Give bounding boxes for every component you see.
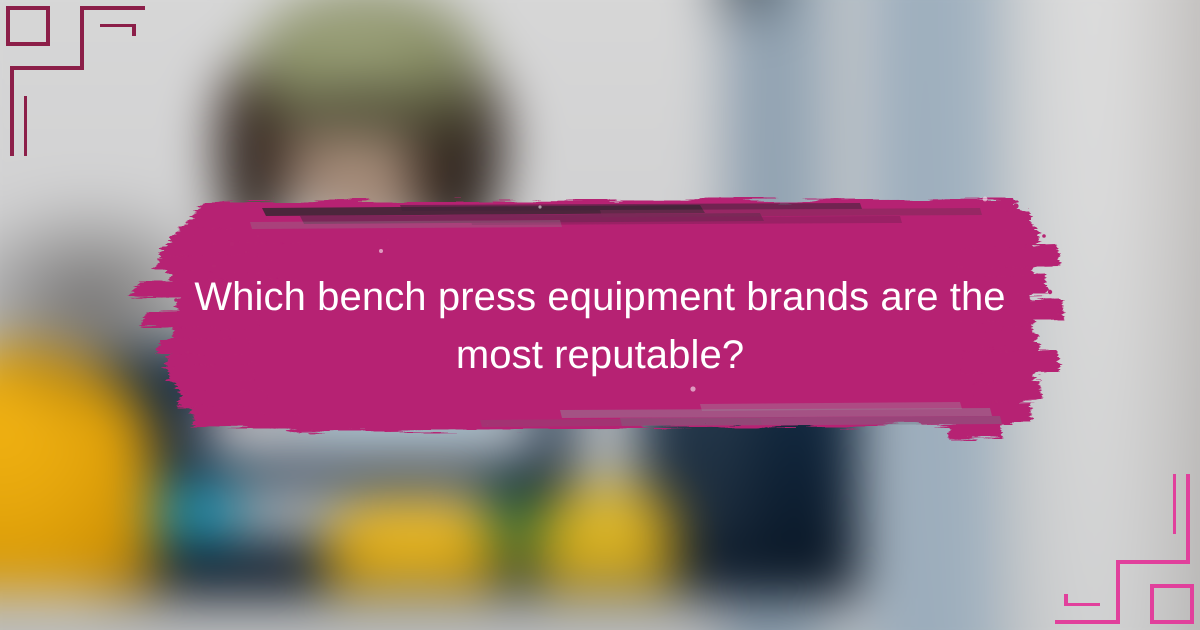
tl-rule-left-elbow (10, 66, 84, 70)
corner-bracket-top-left (0, 0, 190, 190)
tl-rule-top-inner-2 (132, 24, 136, 36)
br-square-right (1190, 584, 1194, 624)
headline: Which bench press equipment brands are t… (170, 268, 1030, 384)
br-rule-bottom-inner-2 (1064, 594, 1068, 606)
br-rule-right-elbow (1116, 560, 1190, 564)
br-square-top (1150, 584, 1194, 588)
tl-square-bottom (6, 42, 50, 46)
tl-square-left (6, 6, 10, 46)
tl-rule-left-outer (10, 66, 14, 156)
br-square-bottom (1150, 620, 1194, 624)
headline-line-1: Which bench press equipment brands are t… (170, 268, 1030, 326)
tl-rule-top-inner (100, 24, 136, 27)
br-rule-bottom-inner (1064, 603, 1100, 606)
share-card: Which bench press equipment brands are t… (0, 0, 1200, 630)
corner-bracket-bottom-right (1010, 440, 1200, 630)
br-rule-right-outer (1186, 474, 1190, 564)
br-square-left (1150, 584, 1154, 624)
tl-square-right (46, 6, 50, 46)
tl-square-top (6, 6, 50, 10)
tl-rule-top-outer (80, 6, 145, 10)
br-rule-corner-bottom (1116, 560, 1120, 624)
br-rule-bottom-outer (1055, 620, 1120, 624)
headline-line-2: most reputable? (170, 326, 1030, 384)
tl-rule-corner-top (80, 6, 84, 70)
br-rule-right-inner (1173, 474, 1176, 534)
tl-rule-left-inner (24, 96, 27, 156)
